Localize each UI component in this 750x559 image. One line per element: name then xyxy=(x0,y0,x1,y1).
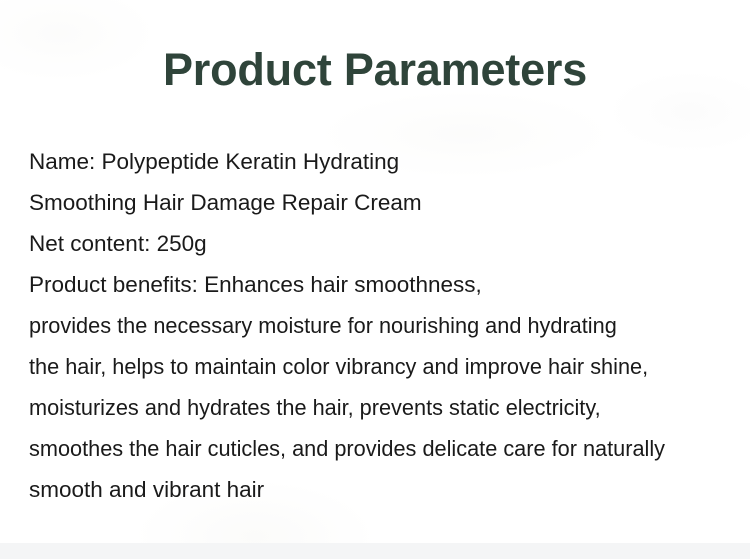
parameter-line-benefits-1: Product benefits: Enhances hair smoothne… xyxy=(29,264,745,305)
bottom-divider-band xyxy=(0,543,750,559)
parameter-line-benefits-2: provides the necessary moisture for nour… xyxy=(29,305,720,346)
parameter-line-name-2: Smoothing Hair Damage Repair Cream xyxy=(29,182,745,223)
product-parameters-list: Name: Polypeptide Keratin Hydrating Smoo… xyxy=(29,141,745,510)
page-title: Product Parameters xyxy=(0,42,750,98)
parameter-line-benefits-4: moisturizes and hydrates the hair, preve… xyxy=(29,387,720,428)
parameter-line-benefits-5: smoothes the hair cuticles, and provides… xyxy=(29,428,720,469)
product-parameters-page: Product Parameters Name: Polypeptide Ker… xyxy=(0,0,750,559)
parameter-line-net-content: Net content: 250g xyxy=(29,223,745,264)
parameter-line-benefits-3: the hair, helps to maintain color vibran… xyxy=(29,346,720,387)
parameter-line-benefits-6: smooth and vibrant hair xyxy=(29,469,745,510)
parameter-line-name-1: Name: Polypeptide Keratin Hydrating xyxy=(29,141,745,182)
